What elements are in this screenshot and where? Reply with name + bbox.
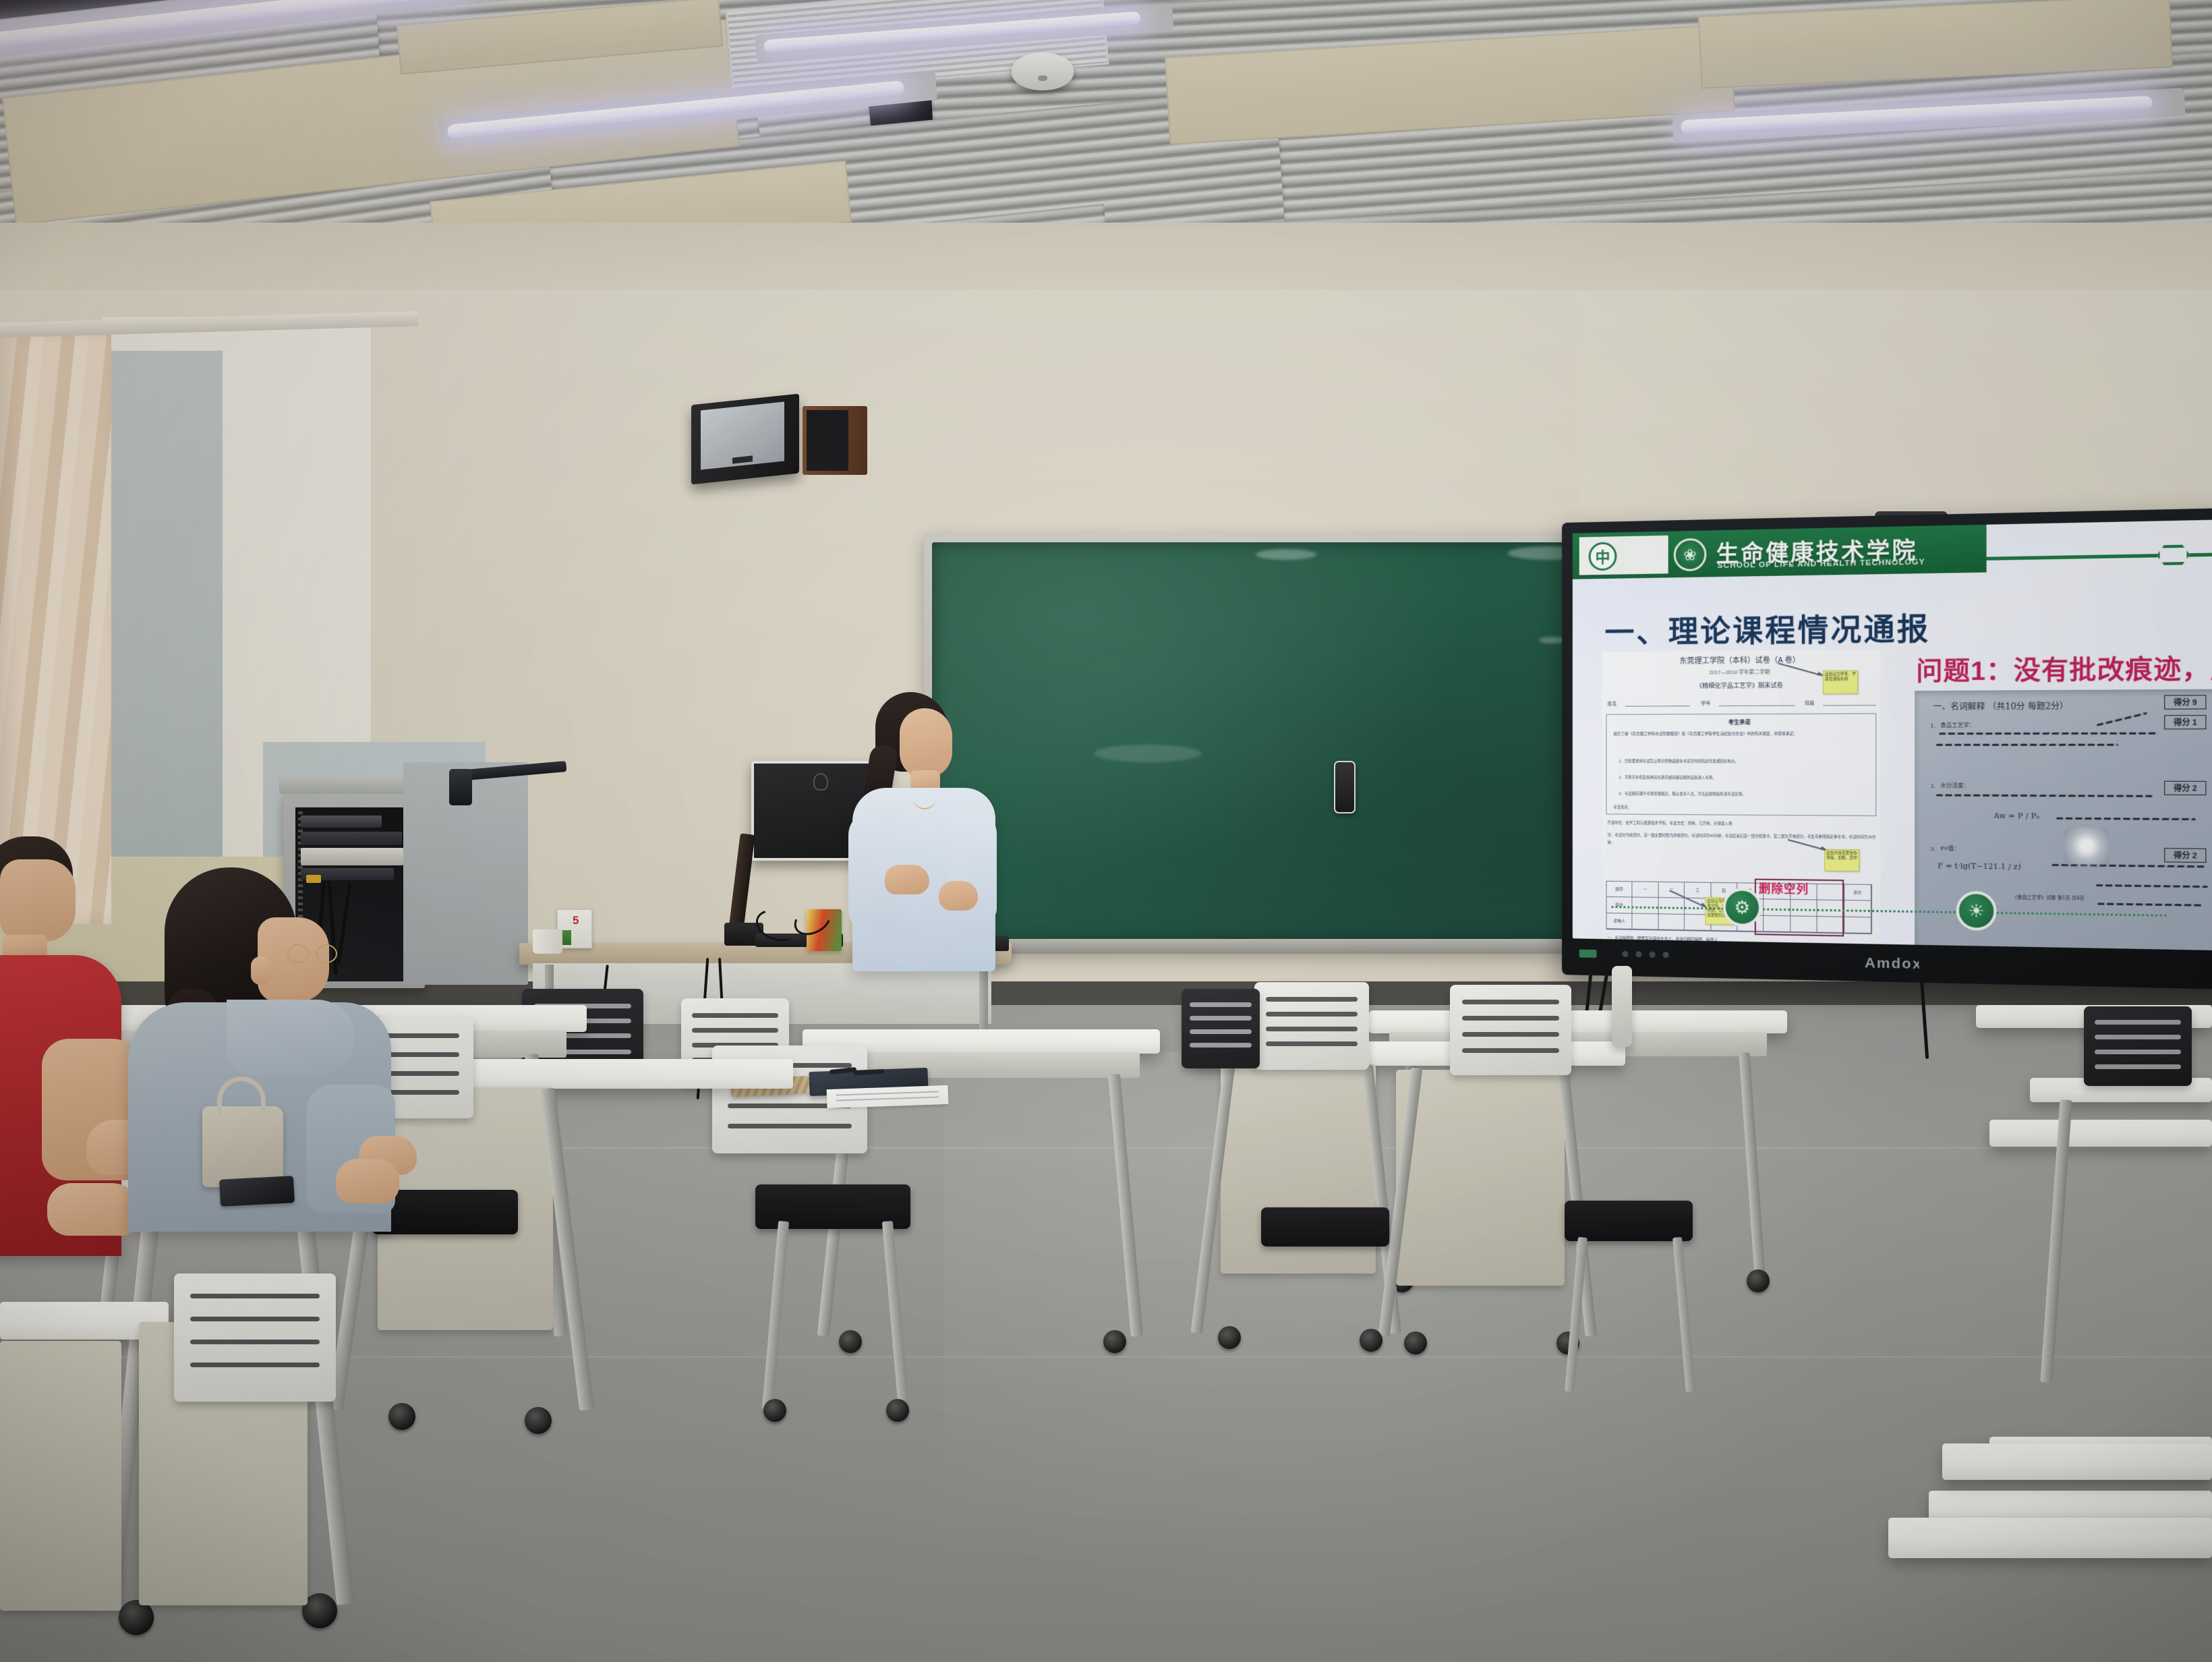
caster-wheel: [839, 1330, 862, 1353]
smoke-detector-icon: [1012, 53, 1074, 90]
chalk-tray: [924, 939, 1592, 954]
scan-item-term: 食品工艺学：: [1940, 721, 1975, 729]
chair-back: [1450, 985, 1571, 1075]
table-row: [1888, 1518, 2212, 1558]
scan-item-no: 1.: [1930, 723, 1936, 729]
pledge-intro: 我已了解《东莞理工学院考试管理规定》和《东莞理工学院学生违纪处分办法》中的有关规…: [1613, 730, 1869, 738]
score-cell: 得分: [1791, 944, 1832, 950]
glasses-icon: [287, 944, 337, 965]
chalkboard: [924, 533, 1592, 951]
chair-back: [1182, 989, 1260, 1068]
rack-device: [301, 848, 403, 865]
exam-field-class: 班级: [1805, 699, 1815, 706]
remote-control[interactable]: [1334, 761, 1356, 813]
presenter: [838, 688, 1006, 971]
exam-pledge-box: 考生承诺 我已了解《东莞理工学院考试管理规定》和《东莞理工学院学生违纪处分办法》…: [1606, 713, 1876, 816]
caster-wheel: [1103, 1330, 1126, 1353]
phone[interactable]: [219, 1176, 295, 1207]
slide-header-hex-icon: [2157, 544, 2190, 565]
pledge-title: 考生承诺: [1606, 718, 1875, 726]
delete-columns-annotation: 删除空列: [1759, 879, 1809, 897]
mug: [533, 929, 562, 954]
scan-glare: [2064, 827, 2109, 869]
caster-wheel: [388, 1403, 415, 1430]
slide-problem-headline: 问题1：没有批改痕迹，应标划对错: [1916, 646, 2212, 688]
sticky-note: 此处内容需要重新排版，加粗、居中: [1824, 849, 1859, 871]
woman-hand: [336, 1159, 399, 1203]
caster-wheel: [1747, 1269, 1770, 1292]
score-mark: 得分 2: [2164, 848, 2206, 863]
scan-formula-aw: Aw = P / P₀: [1993, 811, 2039, 821]
hoodie-hood: [227, 1000, 355, 1075]
table-row: [1942, 1443, 2212, 1480]
scan-formula-f: F = t·lg(T−121.1 / z): [1938, 861, 2021, 871]
chair-seat: [1261, 1207, 1389, 1246]
exam-footer-note2: 注：考试分为两部分。第一题主要时限为闭卷部分，考试时间为90分钟，考试结束后第一…: [1607, 832, 1878, 850]
handbag: [202, 1106, 283, 1187]
presenter-left-hand: [885, 865, 929, 894]
chair-back: [1254, 982, 1369, 1070]
chair-back: [1612, 966, 1632, 1047]
timeline-idea-icon: ☀: [1956, 891, 1997, 931]
exam-field-id: 学号: [1701, 700, 1710, 707]
chair-seat: [1565, 1201, 1693, 1241]
exam-tail-line1: 一、名词解释题（要要写出其中文含义，并进行相应解释，每题 2: [1607, 935, 1813, 944]
caster-wheel: [1360, 1329, 1382, 1352]
classroom-photo: 中 ❀ 生命健康技术学院 SCHOOL OF LIFE AND HEALTH T…: [0, 0, 2212, 1662]
exam-tail-line2: 分，共10分）: [1607, 943, 1630, 949]
caster-wheel: [525, 1407, 552, 1434]
chalkboard-surface: [932, 542, 1583, 942]
rack-device: [301, 815, 382, 828]
scan-item-term: F0值：: [1940, 844, 1959, 853]
woman-ear: [251, 956, 271, 985]
man-hand: [47, 1183, 142, 1236]
timeline-gear-icon: ⚙: [1723, 888, 1762, 927]
score-mark: 得分 9: [2164, 695, 2206, 709]
exam-footer-note: 开课单位：化学工程与能源技术学院，考试方式：闭卷，几开卷，计算器入场: [1607, 820, 1878, 829]
caster-wheel: [886, 1399, 909, 1422]
exam-field-name: 姓名: [1607, 701, 1617, 708]
scan-item-no: 3.: [1930, 846, 1936, 852]
score-cell-label: 得分: [1793, 949, 1800, 951]
rack-device: [301, 832, 402, 845]
folded-table-panel: [1396, 1070, 1565, 1286]
display-brand-label: Amdox: [1562, 949, 2212, 980]
man-face: [0, 859, 76, 942]
scan-item-term: 水分活度：: [1940, 782, 1969, 790]
caster-wheel: [1218, 1326, 1241, 1349]
slide-section-title: 一、理论课程情况通报: [1604, 604, 1930, 652]
pledge-item: 3、考试期间遵守考场管理规定，服从监考人员，不违反规则和各项考试安排。: [1619, 791, 1869, 797]
smart-display[interactable]: 中 ❀ 生命健康技术学院 SCHOOL OF LIFE AND HEALTH T…: [1562, 508, 2212, 990]
table-row: [1989, 1120, 2212, 1147]
window-curtain: [0, 331, 111, 924]
chair-back: [174, 1273, 336, 1402]
presenter-face: [900, 708, 952, 778]
folded-table-panel: [0, 1341, 121, 1611]
pledge-item: 1、已按要求将考试禁止携带的物品放在考试室内的指定位置或指定地点。: [1619, 758, 1869, 764]
presenter-right-hand: [939, 881, 978, 911]
document-camera-icon: [449, 769, 472, 805]
speaker-grill: [701, 401, 784, 469]
score-mark: 得分 1: [2164, 715, 2206, 729]
display-screen[interactable]: 中 ❀ 生命健康技术学院 SCHOOL OF LIFE AND HEALTH T…: [1573, 519, 2212, 951]
caster-wheel: [763, 1399, 786, 1422]
sticky-note: 此处应为学年、学期及课程名称: [1823, 670, 1858, 694]
scan-footer: 《食品工艺学》试卷 第1页 共4页: [2012, 893, 2085, 901]
chair-back: [2084, 1006, 2192, 1086]
pledge-item: 2、不携带手机及各种具有通讯或存储功能的设备进入考场。: [1619, 774, 1869, 780]
score-mark: 得分 2: [2164, 781, 2206, 795]
speaker-right: [803, 406, 867, 475]
scan-heading: 一、名词解释 （共10分 每题2分）: [1933, 700, 2068, 713]
caster-wheel: [1404, 1331, 1427, 1354]
exam-title-line1: 东莞理工学院（本科）试卷（A 卷）: [1602, 654, 1880, 667]
scan-item-no: 2.: [1930, 783, 1936, 789]
table-row: [1369, 1010, 1787, 1033]
pledge-signature: 考生签名：: [1613, 804, 1631, 809]
speaker-grill: [807, 410, 848, 471]
